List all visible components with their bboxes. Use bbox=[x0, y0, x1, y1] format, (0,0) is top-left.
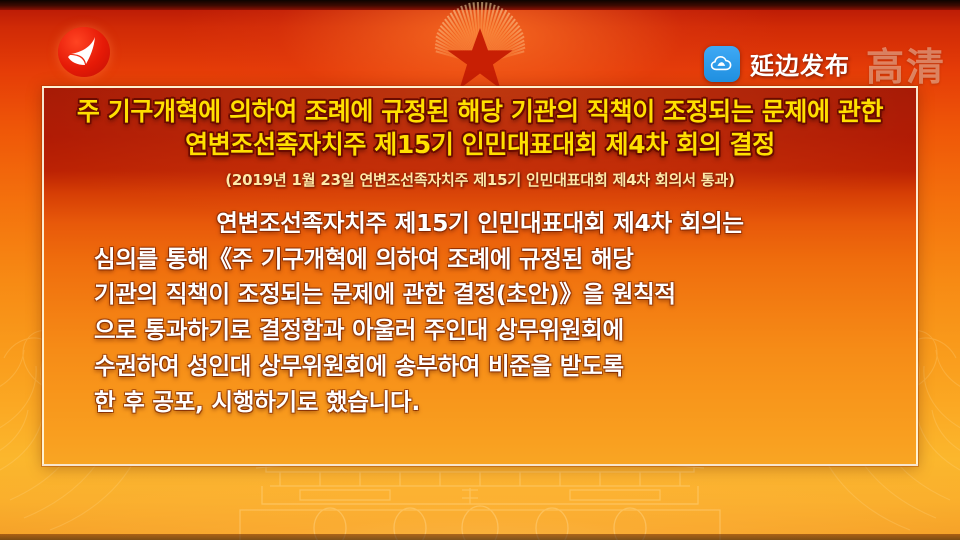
bottom-letterbox-band bbox=[0, 534, 960, 540]
body-line: 으로 통과하기로 결정함과 아울러 주인대 상무위원회에 bbox=[80, 313, 880, 349]
body-line: 한 후 공포, 시행하기로 했습니다. bbox=[80, 385, 880, 421]
title-subtitle: (2019년 1월 23일 연변조선족자치주 제15기 인민대표대회 제4차 회… bbox=[66, 169, 894, 190]
title-line-1: 주 기구개혁에 의하여 조례에 규정된 해당 기관의 직책이 조정되는 문제에 … bbox=[66, 96, 894, 129]
body-line: 기관의 직책이 조정되는 문제에 관한 결정(초안)》을 원칙적 bbox=[80, 277, 880, 313]
body-block: 연변조선족자치주 제15기 인민대표대회 제4차 회의는 심의를 통해《주 기구… bbox=[44, 206, 916, 420]
brand-name-label: 延边发布 bbox=[750, 46, 850, 81]
red-star-emblem-icon bbox=[446, 28, 514, 92]
logo-swoosh-icon bbox=[65, 35, 103, 69]
brand-watermark: 延边发布 高清 bbox=[704, 36, 946, 91]
broadcast-screen: 延边发布 高清 YBTV-1 주 기구개혁에 의하여 조례에 규정된 해당 기관… bbox=[0, 0, 960, 540]
content-panel: YBTV-1 주 기구개혁에 의하여 조례에 규정된 해당 기관의 직책이 조정… bbox=[42, 86, 918, 466]
body-line: 연변조선족자치주 제15기 인민대표대회 제4차 회의는 bbox=[80, 206, 880, 242]
ybtv-logo bbox=[58, 27, 110, 77]
channel-tag-label: YBTV-1 bbox=[52, 86, 115, 90]
star-emblem-group bbox=[330, 8, 630, 94]
body-line: 심의를 통해《주 기구개혁에 의하여 조례에 규정된 해당 bbox=[80, 242, 880, 278]
yanbian-cloud-app-icon bbox=[704, 46, 740, 82]
body-line: 수권하여 성인대 상무위원회에 송부하여 비준을 받도록 bbox=[80, 349, 880, 385]
hd-quality-badge: 高清 bbox=[866, 36, 946, 91]
title-block: 주 기구개혁에 의하여 조례에 규정된 해당 기관의 직책이 조정되는 문제에 … bbox=[44, 88, 916, 190]
cloud-glyph-icon bbox=[710, 53, 734, 75]
title-line-2: 연변조선족자치주 제15기 인민대표대회 제4차 회의 결정 bbox=[66, 129, 894, 162]
top-letterbox-band bbox=[0, 0, 960, 10]
